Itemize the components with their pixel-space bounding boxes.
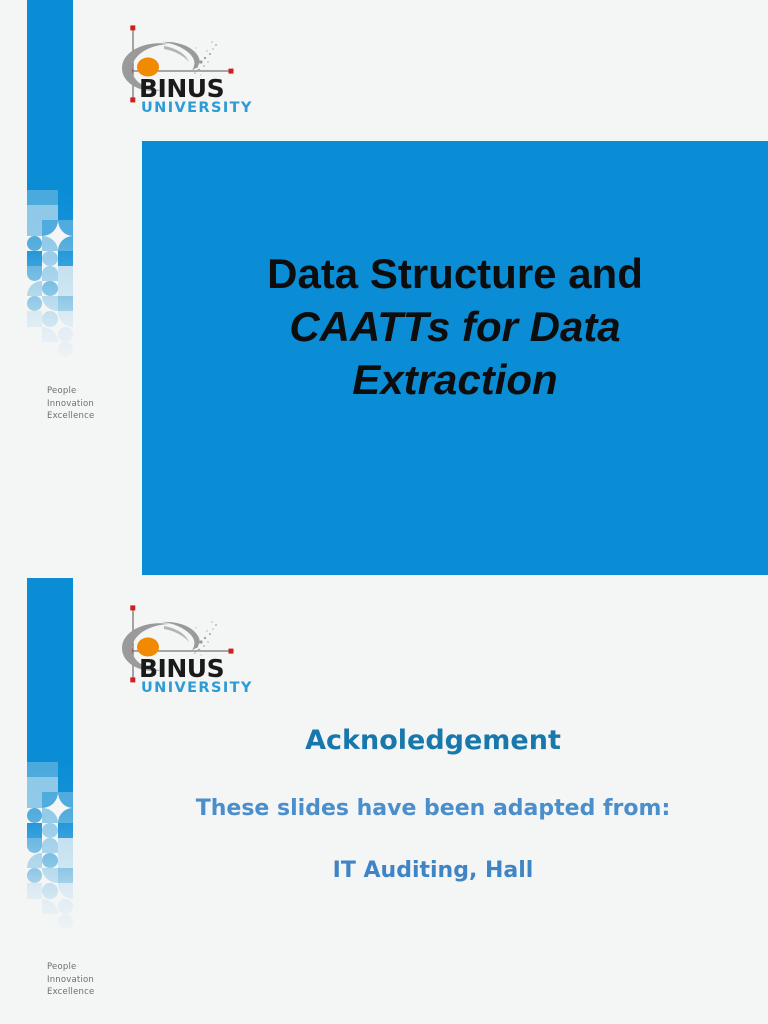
mosaic-cell [58,296,73,311]
mosaic-cell [27,868,42,883]
mosaic-cell [42,883,58,899]
title-banner: Data Structure and CAATTs for Data Extra… [142,141,768,575]
mosaic-cell [58,808,73,823]
mosaic-cell [58,190,73,205]
acknowledgement-source: IT Auditing, Hall [140,856,726,886]
mosaic-cell [42,236,58,251]
tagline-line-2: Innovation [47,974,94,987]
mosaic-cell [27,251,42,266]
mosaic-cell [27,296,42,311]
mosaic-cell [58,281,73,296]
mosaic-cell [58,792,73,808]
mosaic-cell [42,853,58,868]
title-text-group: Data Structure and CAATTs for Data Extra… [175,247,735,406]
mosaic-cell [27,220,42,236]
mosaic-cell [42,296,58,311]
mosaic-cell [27,777,42,792]
logo-marker-dot-bottom [130,97,135,102]
mosaic-cell [42,220,58,236]
logo-marker-dot-top [130,25,135,30]
mosaic-cell [27,266,42,281]
mosaic-cell [58,311,73,327]
mosaic-cell [42,777,58,792]
mosaic-cell [58,899,73,914]
mosaic-cell [58,251,73,266]
logo-marker-dot-top [130,605,135,610]
mosaic-cell [42,899,58,914]
rail-mosaic-pattern [27,762,73,937]
logo-marker-dot-right [229,69,234,74]
mosaic-cell [42,205,58,220]
mosaic-cell [42,808,58,823]
mosaic-cell [27,281,42,296]
mosaic-cell [27,311,42,327]
binus-university-logo: BINUS UNIVERSITY [100,598,250,698]
mosaic-cell [58,853,73,868]
mosaic-cell [27,205,42,220]
logo-wordmark-binus: BINUS [139,654,224,683]
mosaic-cell [58,777,73,792]
mosaic-cell [27,838,42,853]
mosaic-cell [58,868,73,883]
slide-acknowledgement: People Innovation Excellence [0,576,768,1024]
mosaic-cell [42,266,58,281]
acknowledgement-block: Acknoledgement These slides have been ad… [140,724,726,886]
rail-tagline: People Innovation Excellence [47,961,94,999]
mosaic-cell [58,762,73,777]
title-line-2: CAATTs for Data [175,300,735,353]
rail-solid-block [27,0,73,206]
acknowledgement-subtitle: These slides have been adapted from: [140,794,726,824]
mosaic-cell [42,838,58,853]
mosaic-cell [27,808,42,823]
rail-solid-block [27,578,73,778]
mosaic-cell [27,236,42,251]
mosaic-cell [58,205,73,220]
mosaic-cell [58,342,73,357]
logo-wordmark-binus: BINUS [139,74,224,103]
mosaic-cell [42,868,58,883]
title-line-3: Extraction [175,353,735,406]
slide-deck: People Innovation Excellence [0,0,768,1024]
mosaic-cell [58,220,73,236]
tagline-line-3: Excellence [47,410,94,423]
mosaic-cell [27,792,42,808]
slide-title: People Innovation Excellence [0,0,768,576]
mosaic-cell [42,251,58,266]
mosaic-cell [42,823,58,838]
mosaic-cell [42,281,58,296]
mosaic-cell [27,853,42,868]
tagline-line-2: Innovation [47,398,94,411]
mosaic-cell [58,838,73,853]
mosaic-cell [58,266,73,281]
logo-marker-dot-right [229,649,234,654]
mosaic-cell [42,792,58,808]
mosaic-cell [58,327,73,342]
tagline-line-1: People [47,961,94,974]
rail-tagline: People Innovation Excellence [47,385,94,423]
mosaic-cell [58,914,73,929]
mosaic-cell [27,762,58,777]
logo-wordmark-university: UNIVERSITY [141,100,253,116]
logo-marker-dot-bottom [130,677,135,682]
mosaic-cell [27,883,42,899]
mosaic-cell [27,190,58,205]
mosaic-cell [42,311,58,327]
mosaic-cell [58,823,73,838]
mosaic-cell [58,236,73,251]
mosaic-cell [58,883,73,899]
tagline-line-3: Excellence [47,986,94,999]
mosaic-cell [42,327,58,342]
binus-university-logo: BINUS UNIVERSITY [100,18,250,118]
mosaic-cell [27,823,42,838]
logo-wordmark-university: UNIVERSITY [141,680,253,696]
tagline-line-1: People [47,385,94,398]
rail-mosaic-pattern [27,190,73,365]
title-line-1: Data Structure and [175,247,735,300]
acknowledgement-heading: Acknoledgement [140,724,726,758]
